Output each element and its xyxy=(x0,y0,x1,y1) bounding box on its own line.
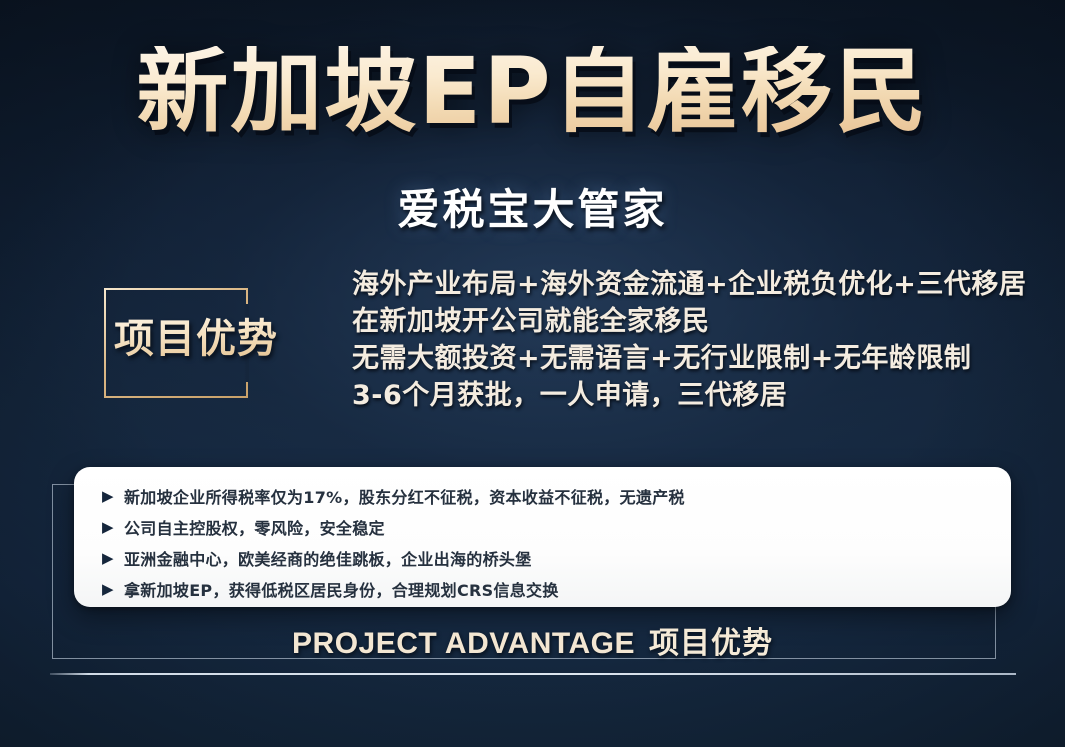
title-block: 新加坡EP自雇移民 xyxy=(0,46,1065,138)
list-item-label: 亚洲金融中心，欧美经商的绝佳跳板，企业出海的桥头堡 xyxy=(124,546,532,570)
feature-line: 无需大额投资+无需语言+无行业限制+无年龄限制 xyxy=(352,340,1022,377)
footer-caption: PROJECT ADVANTAGE项目优势 xyxy=(0,618,1065,662)
badge-label: 项目优势 xyxy=(114,306,328,364)
poster-canvas: 新加坡EP自雇移民 爱税宝大管家 项目优势 海外产业布局+海外资金流通+企业税负… xyxy=(0,0,1065,747)
feature-line: 在新加坡开公司就能全家移民 xyxy=(352,303,1022,340)
benefits-card: ▶ 新加坡企业所得税率仅为17%，股东分红不征税，资本收益不征税，无遗产税 ▶ … xyxy=(74,467,1011,607)
list-item-label: 新加坡企业所得税率仅为17%，股东分红不征税，资本收益不征税，无遗产税 xyxy=(124,484,685,508)
footer-caption-english: PROJECT ADVANTAGE xyxy=(292,627,635,660)
list-item: ▶ 公司自主控股权，零风险，安全稳定 xyxy=(102,512,1011,542)
page-subtitle: 爱税宝大管家 xyxy=(0,176,1065,237)
feature-line: 3-6个月获批，一人申请，三代移居 xyxy=(352,377,1022,414)
bottom-divider xyxy=(50,673,1016,675)
list-item: ▶ 拿新加坡EP，获得低税区居民身份，合理规划CRS信息交换 xyxy=(102,574,1011,604)
triangle-bullet-icon: ▶ xyxy=(102,582,120,597)
list-item: ▶ 亚洲金融中心，欧美经商的绝佳跳板，企业出海的桥头堡 xyxy=(102,543,1011,573)
triangle-bullet-icon: ▶ xyxy=(102,520,120,535)
footer-caption-chinese: 项目优势 xyxy=(649,626,773,661)
list-item-label: 拿新加坡EP，获得低税区居民身份，合理规划CRS信息交换 xyxy=(124,577,559,601)
feature-list: 海外产业布局+海外资金流通+企业税负优化+三代移居 在新加坡开公司就能全家移民 … xyxy=(352,266,1022,414)
triangle-bullet-icon: ▶ xyxy=(102,551,120,566)
list-item: ▶ 新加坡企业所得税率仅为17%，股东分红不征税，资本收益不征税，无遗产税 xyxy=(102,481,1011,511)
feature-line: 海外产业布局+海外资金流通+企业税负优化+三代移居 xyxy=(352,266,1022,303)
triangle-bullet-icon: ▶ xyxy=(102,489,120,504)
list-item-label: 公司自主控股权，零风险，安全稳定 xyxy=(124,515,385,539)
page-title: 新加坡EP自雇移民 xyxy=(136,46,928,138)
